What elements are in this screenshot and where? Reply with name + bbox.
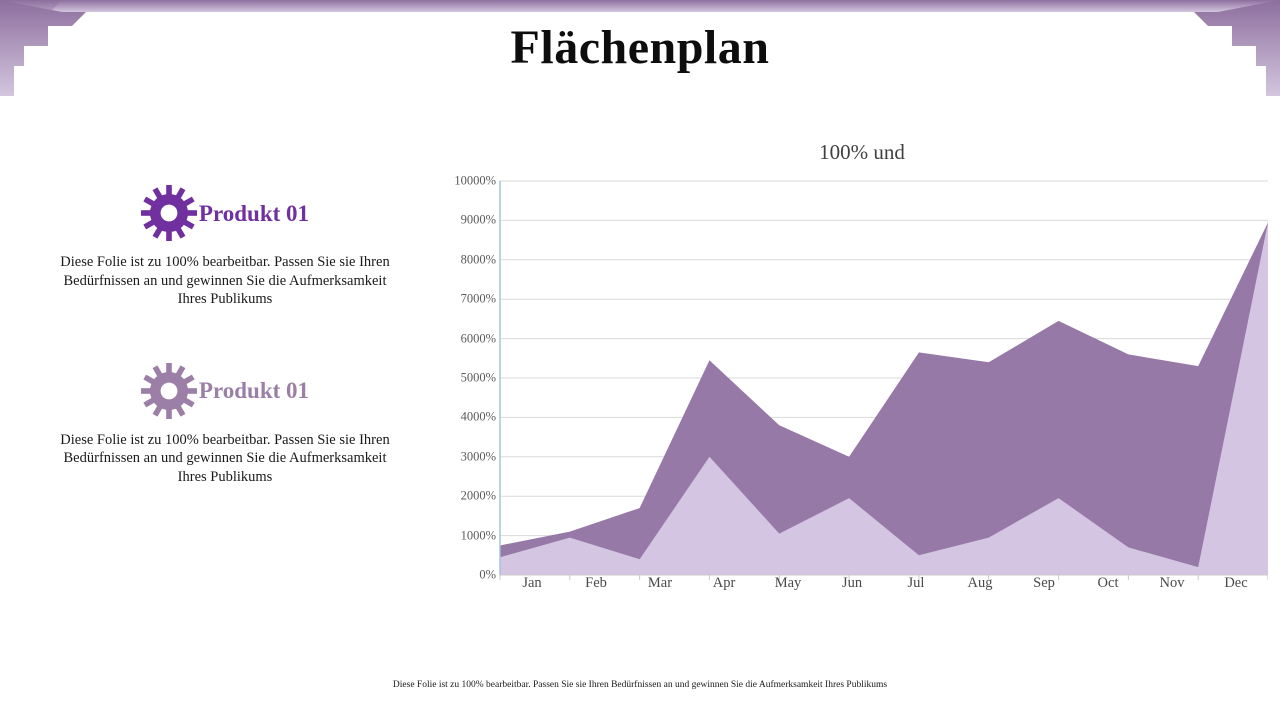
product-2-title: Produkt 01 [199, 379, 309, 402]
x-axis-tick: Sep [1012, 575, 1076, 605]
product-block-2: Produkt 01 Diese Folie ist zu 100% bearb… [30, 363, 420, 487]
chart-plot-area: 10000%9000%8000%7000%6000%5000%4000%3000… [428, 171, 1268, 601]
x-axis-tick: Oct [1076, 575, 1140, 605]
product-list: Produkt 01 Diese Folie ist zu 100% bearb… [30, 185, 420, 546]
gear-icon [141, 363, 197, 419]
x-axis-tick: Jul [884, 575, 948, 605]
chart-title: 100% und [456, 140, 1268, 165]
x-axis-tick: Dec [1204, 575, 1268, 605]
page-title: Flächenplan [0, 20, 1280, 75]
x-axis-tick: Mar [628, 575, 692, 605]
chart-canvas [428, 171, 1268, 601]
product-1-header: Produkt 01 [30, 185, 420, 241]
product-1-title: Produkt 01 [199, 202, 309, 225]
x-axis-tick: Apr [692, 575, 756, 605]
product-block-1: Produkt 01 Diese Folie ist zu 100% bearb… [30, 185, 420, 309]
x-axis-tick-labels: JanFebMarAprMayJunJulAugSepOctNovDec [500, 575, 1268, 605]
x-axis-tick: Aug [948, 575, 1012, 605]
corner-left-step-a [0, 0, 62, 22]
area-chart: 100% und 10000%9000%8000%7000%6000%5000%… [428, 140, 1268, 630]
x-axis-tick: May [756, 575, 820, 605]
gear-icon [141, 185, 197, 241]
x-axis-tick: Nov [1140, 575, 1204, 605]
x-axis-tick: Jun [820, 575, 884, 605]
x-axis-tick: Feb [564, 575, 628, 605]
product-2-header: Produkt 01 [30, 363, 420, 419]
product-1-description: Diese Folie ist zu 100% bearbeitbar. Pas… [30, 253, 420, 309]
footer-note: Diese Folie ist zu 100% bearbeitbar. Pas… [0, 680, 1280, 690]
x-axis-tick: Jan [500, 575, 564, 605]
area-series-1 [500, 222, 1268, 575]
product-2-description: Diese Folie ist zu 100% bearbeitbar. Pas… [30, 431, 420, 487]
corner-top-bar [0, 0, 1280, 12]
